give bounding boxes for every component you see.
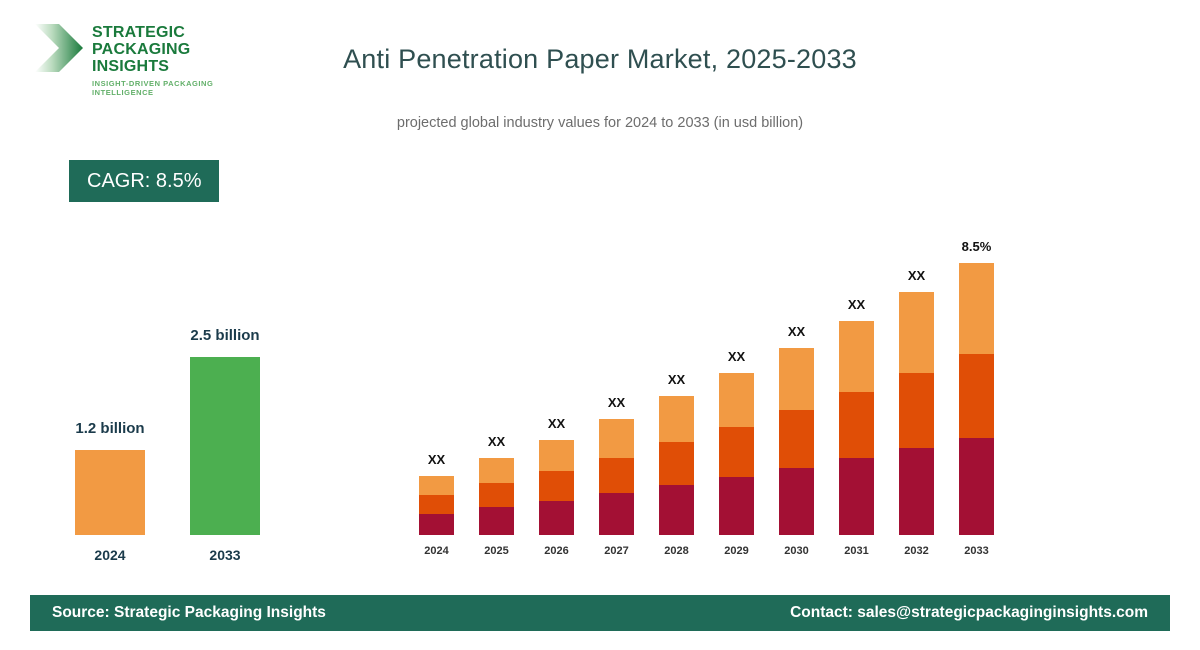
stacked-bar-value-label-2029: XX (728, 349, 745, 364)
stacked-bar-year-label-2028: 2028 (664, 545, 688, 557)
stacked-segment-middle-2029 (719, 427, 754, 477)
comparison-bar-fill-2033 (190, 357, 260, 535)
stacked-segment-top-2027 (599, 419, 634, 458)
page-title: Anti Penetration Paper Market, 2025-2033 (0, 44, 1200, 75)
stacked-segment-bottom-2027 (599, 493, 634, 535)
stacked-segment-top-2029 (719, 373, 754, 427)
stacked-forecast-chart: XX2024XX2025XX2026XX2027XX2028XX2029XX20… (405, 200, 1025, 560)
stacked-segment-top-2024 (419, 476, 454, 496)
stacked-bar-value-label-2031: XX (848, 297, 865, 312)
stacked-bar-year-label-2024: 2024 (424, 545, 448, 557)
stacked-bar-value-label-2026: XX (548, 416, 565, 431)
stacked-bar-2032: XX2032 (899, 292, 934, 535)
stacked-segment-middle-2026 (539, 471, 574, 500)
brand-tagline: INSIGHT-DRIVEN PACKAGING INTELLIGENCE (92, 79, 260, 97)
stacked-bar-year-label-2025: 2025 (484, 545, 508, 557)
stacked-bar-2025: XX2025 (479, 458, 514, 535)
stacked-segment-top-2032 (899, 292, 934, 373)
stacked-bar-2027: XX2027 (599, 419, 634, 535)
stacked-segment-middle-2027 (599, 458, 634, 494)
comparison-bar-fill-2024 (75, 450, 145, 535)
stacked-segment-bottom-2029 (719, 477, 754, 535)
footer-source: Source: Strategic Packaging Insights (52, 604, 326, 622)
stacked-bar-2028: XX2028 (659, 396, 694, 535)
comparison-year-label-2024: 2024 (94, 547, 125, 563)
stacked-bar-value-label-2030: XX (788, 324, 805, 339)
stacked-segment-bottom-2028 (659, 485, 694, 535)
stacked-segment-middle-2031 (839, 392, 874, 458)
footer-bar: Source: Strategic Packaging Insights Con… (30, 595, 1170, 631)
comparison-year-label-2033: 2033 (209, 547, 240, 563)
stacked-bar-2033: 8.5%2033 (959, 263, 994, 535)
stacked-bar-2029: XX2029 (719, 373, 754, 535)
stacked-segment-bottom-2033 (959, 438, 994, 535)
stacked-segment-bottom-2026 (539, 501, 574, 535)
page-subtitle: projected global industry values for 202… (0, 115, 1200, 131)
stacked-segment-middle-2032 (899, 373, 934, 448)
stacked-segment-middle-2028 (659, 442, 694, 485)
stacked-bar-year-label-2030: 2030 (784, 545, 808, 557)
stacked-segment-top-2033 (959, 263, 994, 354)
stacked-bar-2030: XX2030 (779, 348, 814, 535)
comparison-bar-2024: 1.2 billion 2024 (75, 450, 145, 535)
stacked-segment-top-2030 (779, 348, 814, 410)
stacked-segment-bottom-2024 (419, 514, 454, 535)
comparison-chart: 1.2 billion 2024 2.5 billion 2033 (50, 300, 310, 570)
stacked-segment-middle-2030 (779, 410, 814, 468)
stacked-bar-value-label-2028: XX (668, 372, 685, 387)
stacked-segment-top-2026 (539, 440, 574, 471)
stacked-segment-bottom-2030 (779, 468, 814, 535)
stacked-segment-top-2031 (839, 321, 874, 392)
stacked-segment-bottom-2031 (839, 458, 874, 535)
stacked-segment-bottom-2025 (479, 507, 514, 535)
comparison-value-label-2024: 1.2 billion (75, 420, 144, 437)
stacked-bar-value-label-2032: XX (908, 268, 925, 283)
comparison-bar-2033: 2.5 billion 2033 (190, 357, 260, 535)
comparison-value-label-2033: 2.5 billion (190, 327, 259, 344)
stacked-segment-middle-2033 (959, 354, 994, 438)
stacked-bar-value-label-2027: XX (608, 395, 625, 410)
chart-canvas: STRATEGIC PACKAGING INSIGHTS INSIGHT-DRI… (0, 0, 1200, 650)
stacked-bar-year-label-2033: 2033 (964, 545, 988, 557)
stacked-bar-year-label-2031: 2031 (844, 545, 868, 557)
stacked-bar-value-label-2025: XX (488, 434, 505, 449)
stacked-segment-bottom-2032 (899, 448, 934, 535)
stacked-bar-value-label-2033: 8.5% (962, 239, 992, 254)
cagr-badge: CAGR: 8.5% (69, 160, 219, 202)
stacked-bar-2031: XX2031 (839, 321, 874, 535)
stacked-segment-middle-2025 (479, 483, 514, 507)
stacked-segment-top-2028 (659, 396, 694, 442)
stacked-bar-2026: XX2026 (539, 440, 574, 535)
stacked-bar-value-label-2024: XX (428, 452, 445, 467)
brand-line-1: STRATEGIC (92, 24, 260, 41)
stacked-segment-middle-2024 (419, 495, 454, 513)
stacked-bar-year-label-2029: 2029 (724, 545, 748, 557)
footer-contact: Contact: sales@strategicpackaginginsight… (790, 604, 1148, 622)
stacked-segment-top-2025 (479, 458, 514, 484)
stacked-bar-year-label-2032: 2032 (904, 545, 928, 557)
stacked-bar-year-label-2027: 2027 (604, 545, 628, 557)
stacked-bar-2024: XX2024 (419, 476, 454, 535)
stacked-bar-year-label-2026: 2026 (544, 545, 568, 557)
